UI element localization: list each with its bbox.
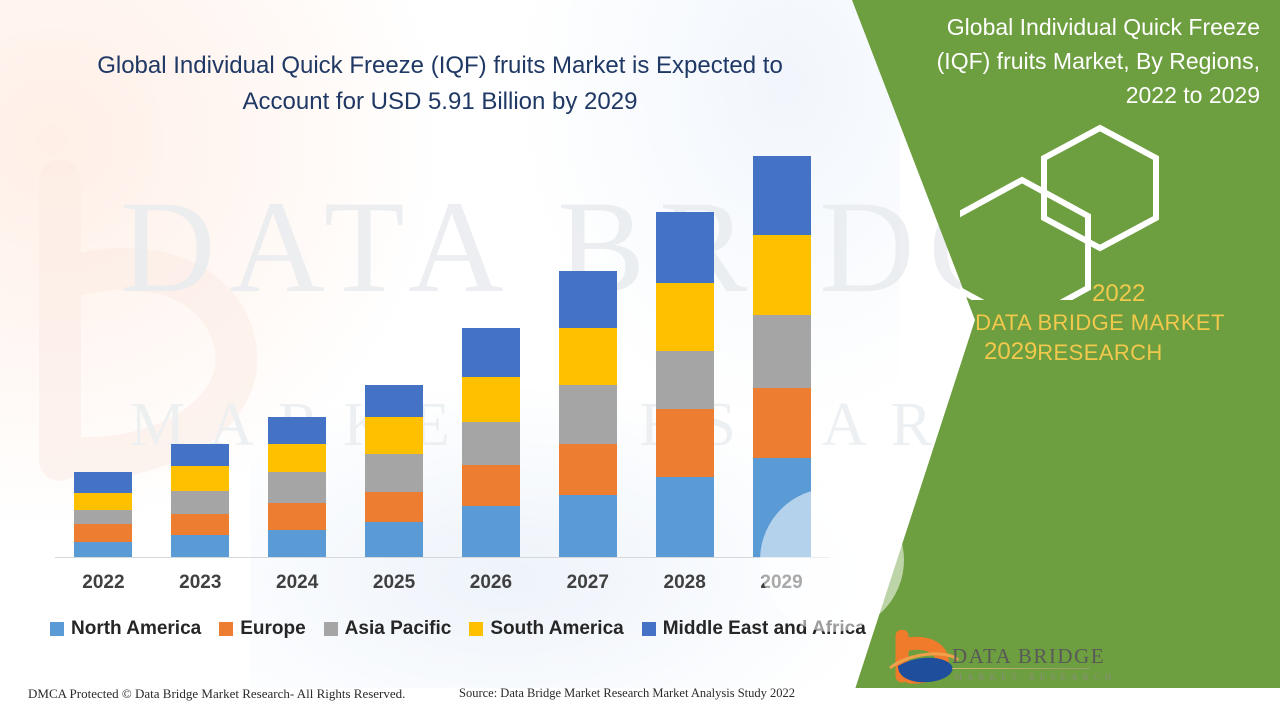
logo-subtitle: MARKET RESEARCH: [954, 672, 1116, 682]
brand-name: DATA BRIDGE MARKET RESEARCH: [950, 308, 1250, 368]
panel-title: Global Individual Quick Freeze (IQF) fru…: [905, 10, 1260, 112]
logo-name: DATA BRIDGE: [952, 644, 1105, 669]
hexagon-shapes-icon: [960, 120, 1220, 300]
footer-copyright: DMCA Protected © Data Bridge Market Rese…: [28, 686, 405, 702]
footer-source: Source: Data Bridge Market Research Mark…: [459, 686, 795, 701]
hexagon-group: 2029 2022: [960, 120, 1220, 300]
hexagon-label-2022: 2022: [1092, 280, 1145, 308]
chart-infographic: DATA BRIDGE MARKET RESEARCH Global Indiv…: [0, 0, 1280, 720]
